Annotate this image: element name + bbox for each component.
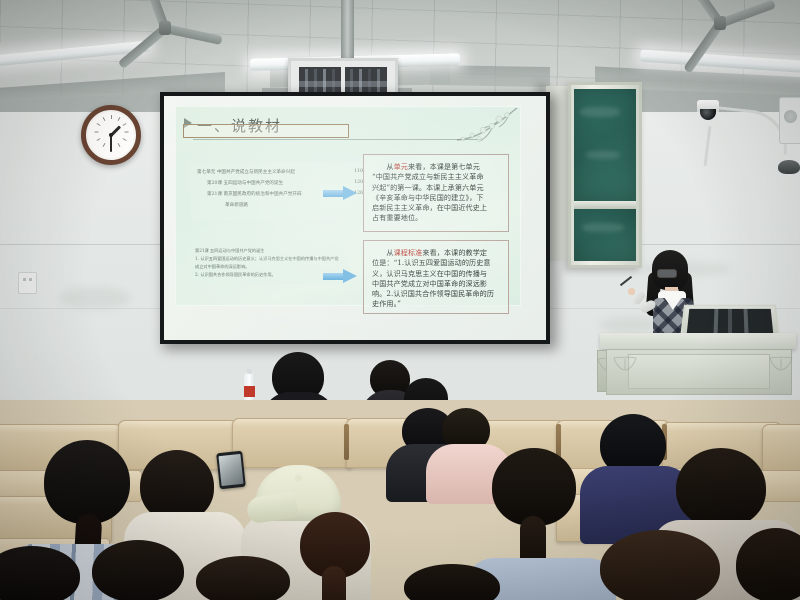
presentation-slide[interactable]: 一、说教材 第七单元 中国共产党成立与新民主主义革命兴起110第20课 五四运动… [175,106,521,306]
body-text: 来看，本课是第七单元 [408,162,480,171]
ceiling-fan-icon [660,0,780,45]
box-line: 史作用。” [372,299,501,309]
green-chalkboard[interactable] [568,82,642,268]
podium-crest-icon [768,356,794,372]
toc-highlight-box [183,124,349,138]
box-line: 《辛亥革命与中华民国的建立》，下 [372,193,501,203]
body-text: 史作用。” [372,299,401,308]
box-line: 占有重要地位。 [372,213,501,223]
body-text: 从 [372,162,394,171]
body-text: 位是：“1.认识五四爱国运动的历史意 [372,258,491,267]
podium-top [600,333,796,349]
body-text: “中国共产党成立与新民主主义革命 [372,172,484,181]
ceiling-fan-icon [105,8,225,48]
body-text: 响。2.认识国共合作领导国民革命的历 [372,289,494,298]
box-line: 从课程标准来看，本课的教学定 [372,248,501,258]
wall-clock [81,105,141,165]
bench-row [762,424,800,474]
body-text: 中国共产党成立对中国革命的深远影 [372,279,487,288]
clock-minute-hand [110,135,112,152]
curriculum-standard-box: 从课程标准来看，本课的教学定位是：“1.认识五四爱国运动的历史意义，认识马克思主… [363,240,509,314]
bench-row [232,418,352,468]
toc-row-page: 120 [354,180,363,185]
glasses-icon [657,269,677,278]
box-line: 中国共产党成立对中国革命的深远影 [372,279,501,289]
toc-row-page: 110 [354,169,363,174]
body-text: 占有重要地位。 [372,213,422,222]
podium-crest-icon [612,356,638,372]
wall-speaker-icon [779,97,800,144]
toc-row: 革命新道路 [195,201,369,212]
classroom-photo: 一、说教材 第七单元 中国共产党成立与新民主主义革命兴起110第20课 五四运动… [0,0,800,600]
projection-screen[interactable]: 一、说教材 第七单元 中国共产党成立与新民主主义革命兴起110第20课 五四运动… [164,96,546,340]
toc-row-title: 第20课 五四运动与中国共产党的诞生 [207,180,283,186]
body-text: 兴起”的第一课。本课上承第六单元 [372,183,484,192]
box-line: 义，认识马克思主义在中国的传播与 [372,269,501,279]
unit-perspective-box: 从单元来看，本课是第七单元“中国共产党成立与新民主主义革命兴起”的第一课。本课上… [363,154,509,232]
body-text: 从 [372,248,394,257]
note-line: 第21课 五四运动与中国共产党的诞生 [195,247,345,255]
toc-row: 第七单元 中国共产党成立与新民主主义革命兴起110 [195,168,369,179]
note-line: 1. 认识五四爱国运动的历史意义；认识马克思主义在中国的传播与中国共产党 [195,255,345,263]
emphasis-text: 单元 [394,162,408,171]
wall-lamp-icon [778,160,800,174]
toc-row-title: 革命新道路 [225,202,248,208]
title-divider [193,139,481,140]
box-line: 从单元来看，本课是第七单元 [372,162,501,172]
ceiling-beam [430,65,550,87]
body-text: 来看，本课的教学定 [422,248,487,257]
toc-row-title: 第21课 南京国民政府的统治和中国共产党开辟 [207,191,302,197]
box-line: 兴起”的第一课。本课上承第六单元 [372,183,501,193]
body-text: 义，认识马克思主义在中国的传播与 [372,269,487,278]
body-text: 《辛亥革命与中华民国的建立》，下 [372,193,484,202]
toc-row-title: 第七单元 中国共产党成立与新民主主义革命兴起 [197,169,295,175]
dome-security-camera-icon [697,100,719,112]
wall-socket [18,272,37,294]
box-line: 启新民主主义革命，在中国近代史上 [372,203,501,213]
arrow-right-icon [323,186,357,200]
arrow-right-icon [323,269,357,283]
box-line: “中国共产党成立与新民主主义革命 [372,172,501,182]
smartphone-recording[interactable] [216,451,246,490]
box-line: 位是：“1.认识五四爱国运动的历史意 [372,258,501,268]
podium-front-panel [628,354,770,389]
box-line: 响。2.认识国共合作领导国民革命的历 [372,289,501,299]
body-text: 启新民主主义革命，在中国近代史上 [372,203,487,212]
emphasis-text: 课程标准 [394,248,423,257]
